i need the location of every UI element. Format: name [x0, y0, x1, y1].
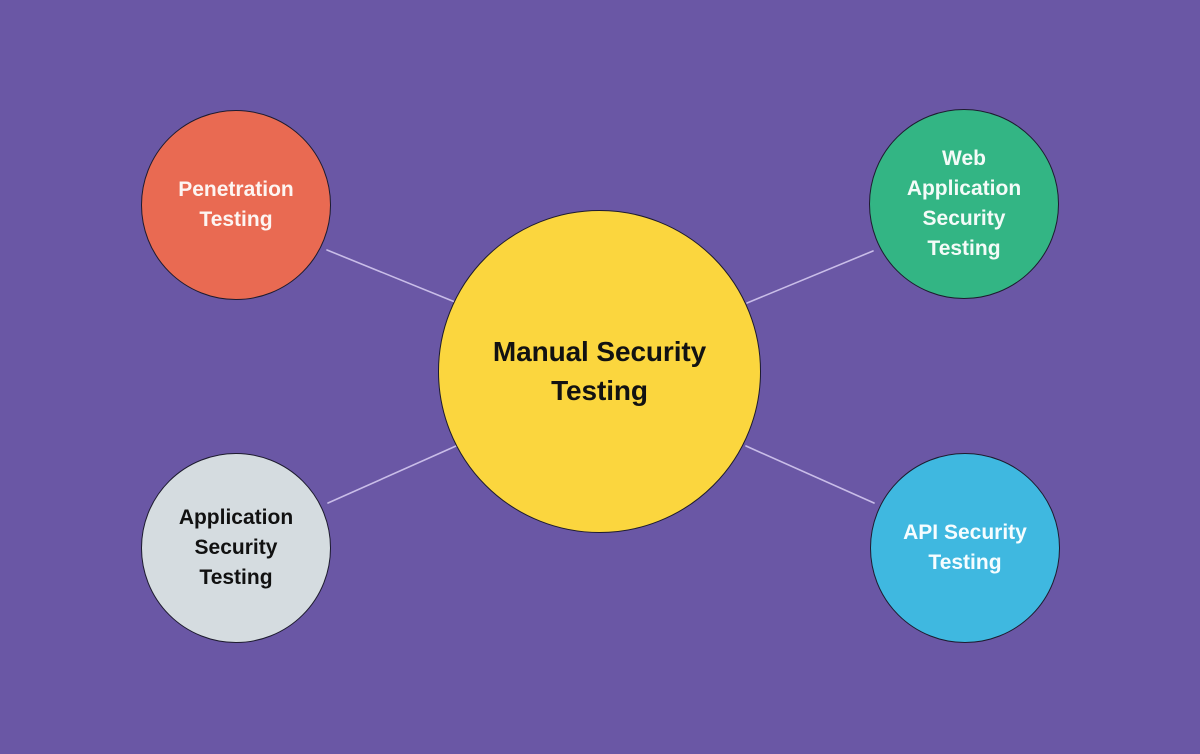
node-penetration-testing-label: Penetration Testing: [150, 175, 323, 235]
diagram-canvas: Manual Security Testing Penetration Test…: [0, 0, 1200, 754]
connector-center-to-application-security-testing: [328, 446, 456, 503]
node-web-application-security-testing[interactable]: Web Application Security Testing: [869, 109, 1059, 299]
connector-center-to-web-application-security-testing: [747, 251, 873, 303]
node-penetration-testing[interactable]: Penetration Testing: [141, 110, 331, 300]
node-application-security-testing[interactable]: Application Security Testing: [141, 453, 331, 643]
node-manual-security-testing-label: Manual Security Testing: [452, 333, 747, 410]
node-web-application-security-testing-label: Web Application Security Testing: [878, 144, 1051, 263]
connector-center-to-api-security-testing: [746, 446, 874, 503]
node-api-security-testing-label: API Security Testing: [879, 518, 1052, 578]
node-application-security-testing-label: Application Security Testing: [150, 503, 323, 592]
node-manual-security-testing[interactable]: Manual Security Testing: [438, 210, 761, 533]
connector-center-to-penetration-testing: [327, 250, 455, 302]
node-api-security-testing[interactable]: API Security Testing: [870, 453, 1060, 643]
